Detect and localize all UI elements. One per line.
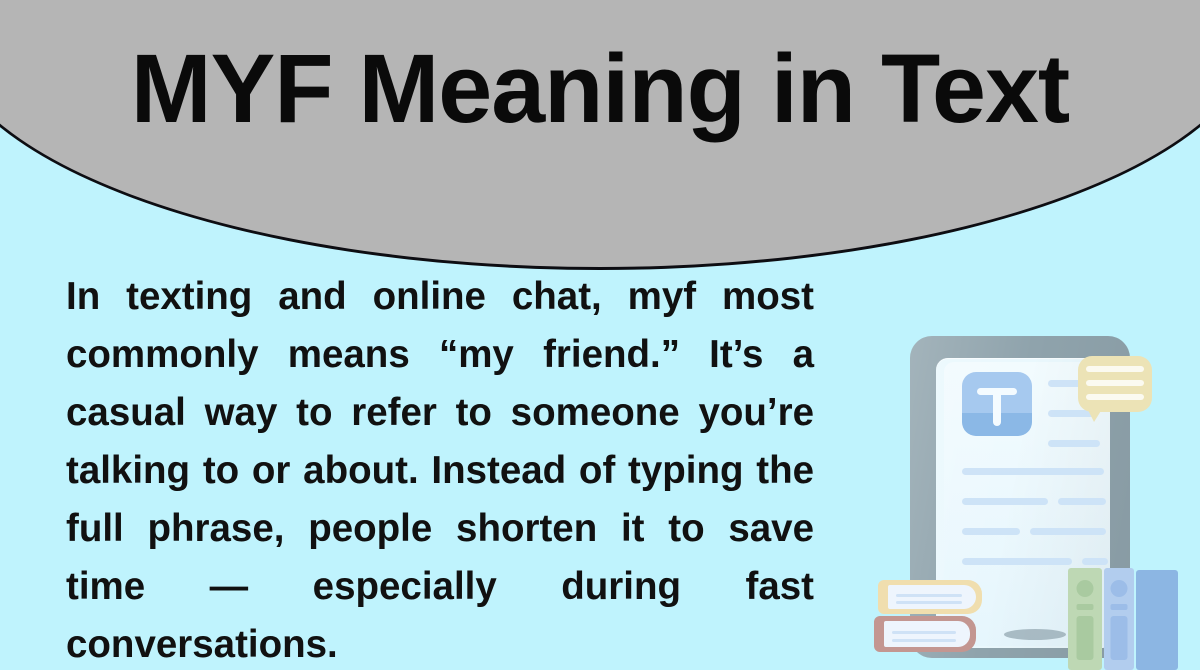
book-page-line bbox=[892, 631, 956, 634]
document-text-line bbox=[1030, 528, 1106, 535]
body-paragraph: In texting and online chat, myf most com… bbox=[66, 268, 814, 670]
document-tablet-books-illustration bbox=[872, 322, 1184, 670]
book-pages bbox=[888, 585, 976, 609]
binder-label-detail bbox=[1077, 604, 1094, 610]
page-title: MYF Meaning in Text bbox=[131, 40, 1069, 137]
document-text-line bbox=[1082, 558, 1108, 565]
binder-label-detail bbox=[1111, 604, 1128, 610]
letter-t-glyph-icon bbox=[962, 372, 1032, 436]
book-pages bbox=[884, 621, 970, 647]
binder-panel-detail bbox=[1111, 616, 1128, 660]
book-page-line bbox=[892, 639, 956, 642]
document-text-line bbox=[962, 558, 1072, 565]
document-text-line bbox=[1058, 498, 1106, 505]
header-banner-top-mask bbox=[0, 0, 1200, 13]
document-text-line bbox=[962, 528, 1020, 535]
binder-ring-detail bbox=[1077, 580, 1094, 597]
text-letter-badge-icon bbox=[962, 372, 1032, 436]
page-root: MYF Meaning in Text In texting and onlin… bbox=[0, 0, 1200, 670]
speech-bubble-line bbox=[1086, 394, 1144, 400]
speech-bubble-line bbox=[1086, 380, 1144, 386]
letter-t-stem bbox=[993, 388, 1001, 426]
page-title-container: MYF Meaning in Text bbox=[0, 18, 1200, 158]
tablet-base-shadow bbox=[1004, 629, 1066, 640]
book-page-line bbox=[896, 601, 962, 604]
yellow-book-icon bbox=[878, 580, 982, 614]
speech-bubble-line bbox=[1086, 366, 1144, 372]
green-binder-icon bbox=[1068, 568, 1102, 670]
document-text-line bbox=[1048, 440, 1100, 447]
binder-panel-detail bbox=[1077, 616, 1094, 660]
document-text-line bbox=[962, 468, 1104, 475]
document-text-line bbox=[962, 498, 1048, 505]
book-page-line bbox=[896, 594, 962, 597]
wide-blue-binder-icon bbox=[1136, 570, 1178, 670]
rose-book-icon bbox=[874, 616, 976, 652]
binder-ring-detail bbox=[1111, 580, 1128, 597]
blue-binder-icon bbox=[1104, 568, 1134, 670]
